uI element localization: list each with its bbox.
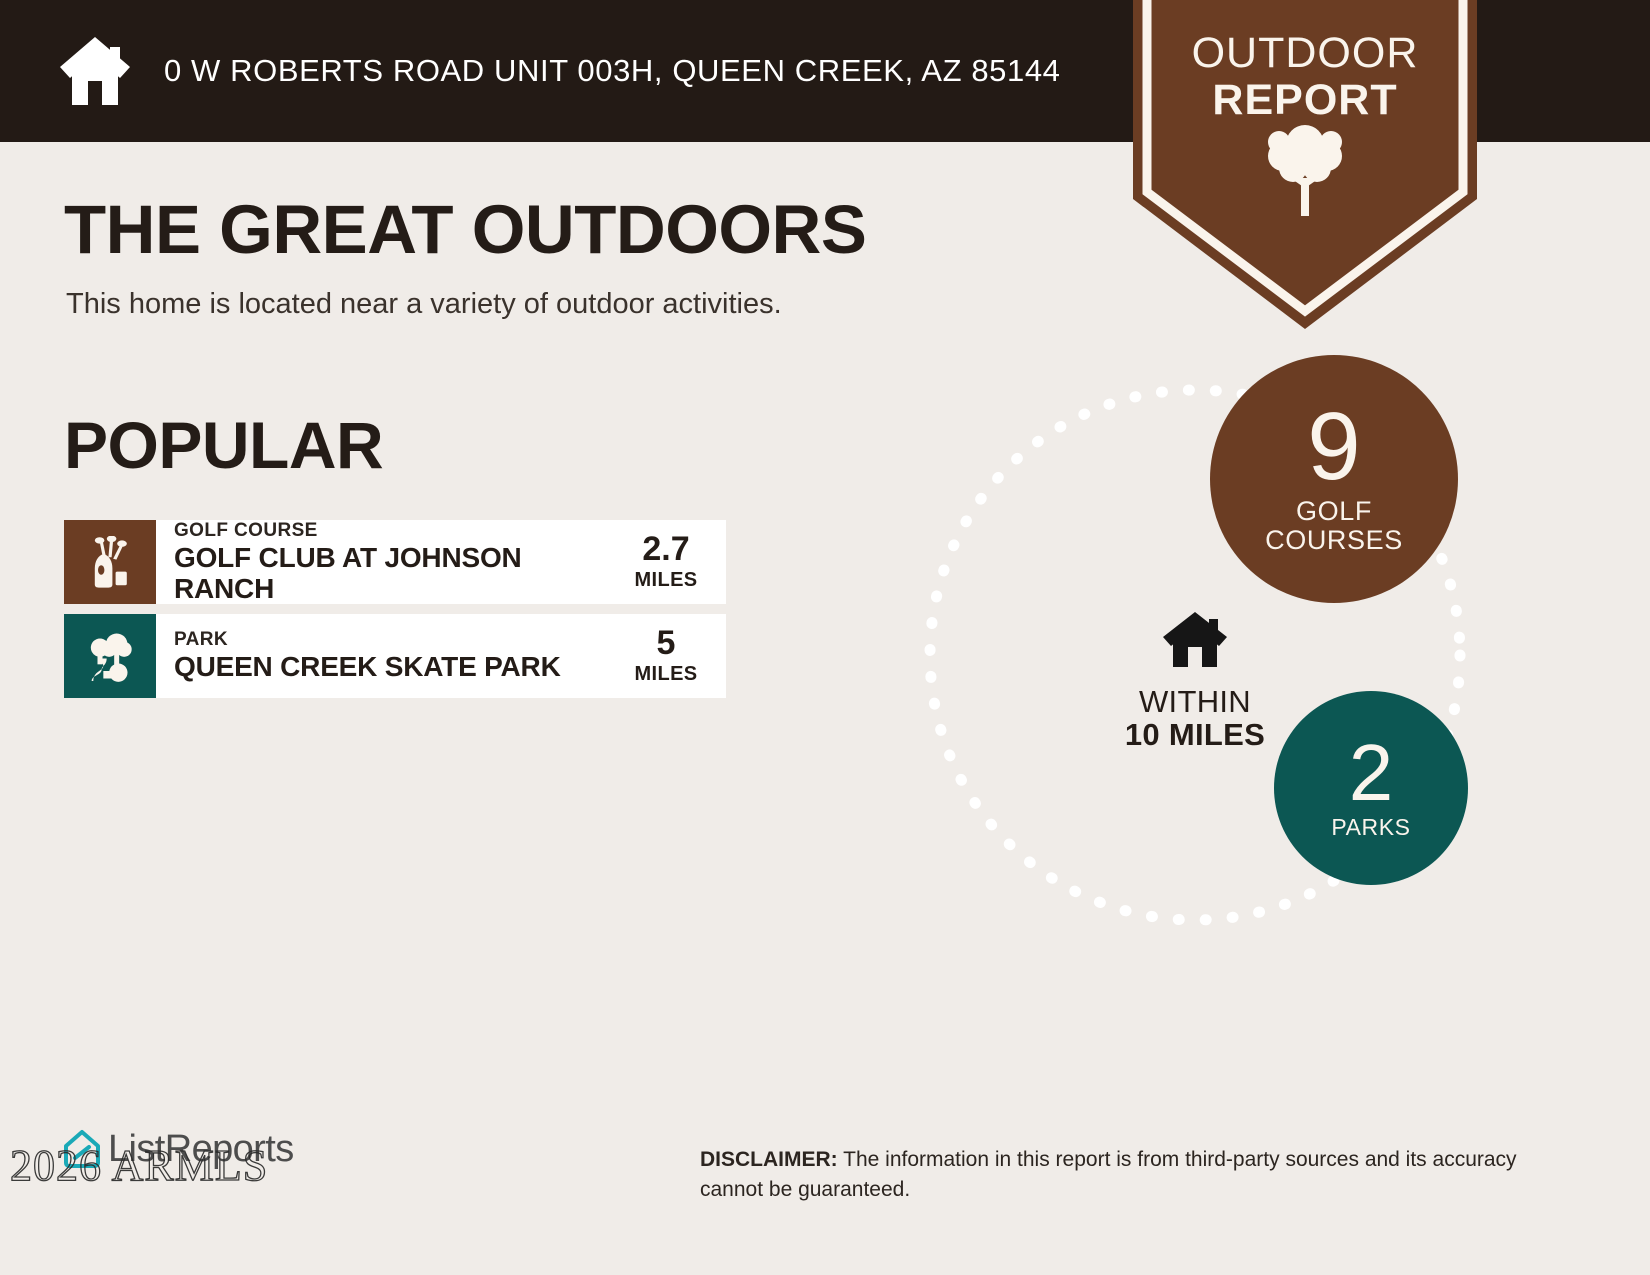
list-item[interactable]: PARK QUEEN CREEK SKATE PARK 5 MILES	[64, 614, 726, 698]
list-item-category: GOLF COURSE	[174, 520, 612, 542]
list-item-distance: 5 MILES	[618, 614, 726, 698]
stat-circle-golf-courses[interactable]: 9 GOLF COURSES	[1210, 355, 1458, 603]
radius-diagram: WITHIN 10 MILES 9 GOLF COURSES 2 PARKS	[850, 355, 1570, 975]
radius-line-1: WITHIN	[1105, 685, 1285, 718]
outdoor-report-badge: OUTDOOR REPORT	[1133, 0, 1477, 329]
stat-value: 9	[1307, 403, 1360, 491]
page-title: THE GREAT OUTDOORS	[64, 195, 866, 264]
park-trees-icon	[64, 614, 156, 698]
list-item[interactable]: GOLF COURSE GOLF CLUB AT JOHNSON RANCH 2…	[64, 520, 726, 604]
popular-list: GOLF COURSE GOLF CLUB AT JOHNSON RANCH 2…	[64, 520, 726, 708]
section-title-popular: POPULAR	[64, 412, 383, 478]
stat-circle-parks[interactable]: 2 PARKS	[1274, 691, 1468, 885]
home-icon	[1161, 610, 1229, 668]
badge-shape	[1133, 0, 1477, 329]
golf-bag-icon	[64, 520, 156, 604]
distance-value: 2.7	[642, 532, 689, 566]
radius-line-2: 10 MILES	[1105, 718, 1285, 753]
list-item-text: GOLF COURSE GOLF CLUB AT JOHNSON RANCH	[156, 520, 618, 604]
stat-value: 2	[1349, 736, 1394, 810]
page-subtitle: This home is located near a variety of o…	[66, 288, 782, 321]
stat-label-line-1: GOLF	[1265, 497, 1403, 526]
property-address: 0 W ROBERTS ROAD UNIT 003H, QUEEN CREEK,…	[164, 53, 1061, 89]
list-item-category: PARK	[174, 629, 612, 651]
stat-label-line-2: COURSES	[1265, 526, 1403, 555]
distance-unit: MILES	[634, 663, 697, 686]
distance-unit: MILES	[634, 569, 697, 592]
radius-center-label: WITHIN 10 MILES	[1105, 610, 1285, 753]
list-item-name: QUEEN CREEK SKATE PARK	[174, 651, 612, 682]
disclaimer: DISCLAIMER: The information in this repo…	[700, 1145, 1530, 1206]
list-item-name: GOLF CLUB AT JOHNSON RANCH	[174, 542, 612, 604]
list-item-text: PARK QUEEN CREEK SKATE PARK	[156, 614, 618, 698]
armls-watermark: 2026 ARMLS	[10, 1140, 268, 1191]
disclaimer-label: DISCLAIMER:	[700, 1148, 838, 1171]
stat-label: GOLF COURSES	[1265, 497, 1403, 555]
stat-label: PARKS	[1331, 815, 1410, 840]
list-item-distance: 2.7 MILES	[618, 520, 726, 604]
outdoor-report-page: 0 W ROBERTS ROAD UNIT 003H, QUEEN CREEK,…	[0, 0, 1650, 1275]
home-icon	[58, 35, 132, 107]
distance-value: 5	[657, 626, 676, 660]
stat-label-line-1: PARKS	[1331, 815, 1410, 840]
armls-watermark-text: 2026 ARMLS	[10, 1141, 268, 1190]
